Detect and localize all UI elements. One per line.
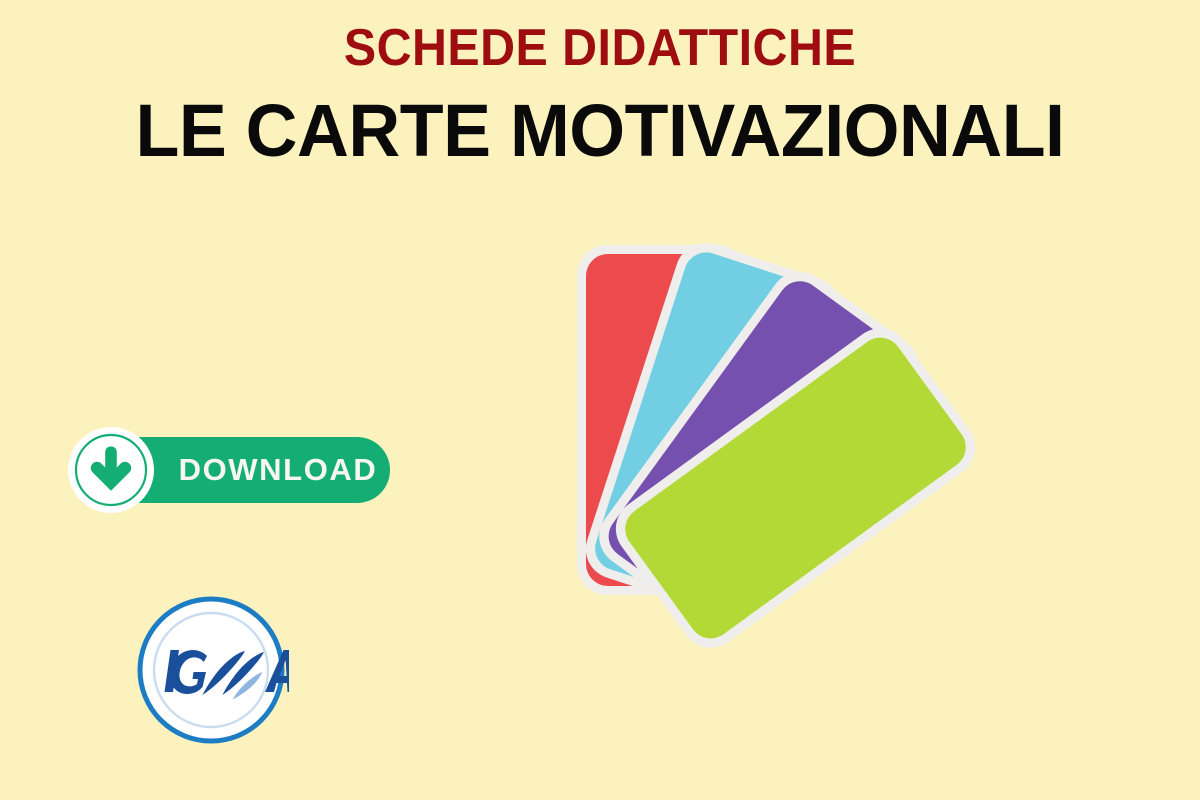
- poster-canvas: SCHEDE DIDATTICHE LE CARTE MOTIVAZIONALI…: [0, 0, 1200, 800]
- download-arrow-icon: [68, 427, 154, 513]
- card-deck-icon: [540, 230, 1040, 790]
- download-button-label: DOWNLOAD: [166, 437, 390, 503]
- page-title: LE CARTE MOTIVAZIONALI: [18, 74, 1182, 168]
- title-block: SCHEDE DIDATTICHE LE CARTE MOTIVAZIONALI: [0, 0, 1200, 168]
- download-button[interactable]: DOWNLOAD: [68, 427, 390, 513]
- igea-logo-icon[interactable]: [133, 592, 289, 748]
- kicker-text: SCHEDE DIDATTICHE: [42, 0, 1158, 74]
